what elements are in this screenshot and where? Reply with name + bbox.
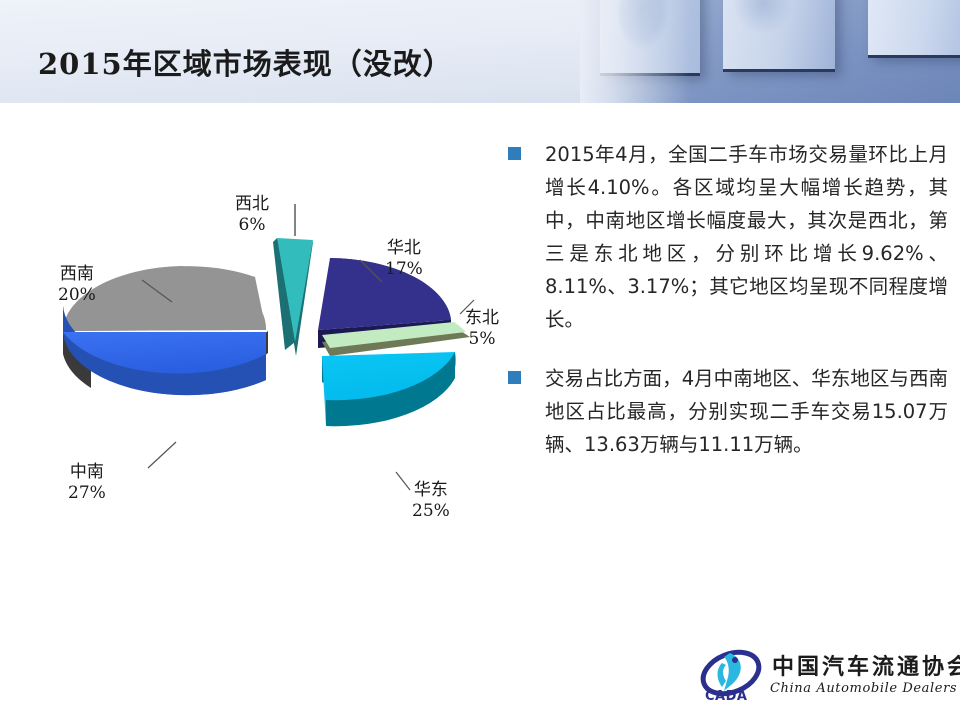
pie-label-xinan: 西南 20% — [58, 264, 96, 306]
pie-label-zhongnan-pct: 27% — [68, 483, 106, 504]
bullet-item: 交易占比方面，4月中南地区、华东地区与西南地区占比最高，分别实现二手车交易15.… — [508, 362, 948, 461]
pie-label-huabei: 华北 17% — [385, 238, 423, 280]
pie-label-huadong: 华东 25% — [412, 480, 450, 522]
logo-english-name: China Automobile Dealers Association — [770, 681, 960, 696]
leader-line-huadong — [396, 472, 410, 490]
page-title: 2015年区域市场表现（没改） — [38, 41, 453, 83]
pie-label-huabei-name: 华北 — [387, 238, 421, 258]
pie-label-xibei-name: 西北 — [235, 194, 269, 214]
pie-label-zhongnan-name: 中南 — [70, 462, 104, 482]
slide-canvas: 2015年区域市场表现（没改） — [0, 0, 960, 720]
photo-cube-3 — [868, 0, 960, 58]
pie-label-xibei: 西北 6% — [235, 194, 269, 236]
pie-chart: 西北 6% 西南 20% 华北 17% 东北 5% 中南 27% 华东 25% — [30, 180, 510, 550]
content-text-column: 2015年4月，全国二手车市场交易量环比上月增长4.10%。各区域均呈大幅增长趋… — [508, 138, 948, 487]
square-bullet-icon — [508, 147, 521, 160]
square-bullet-icon — [508, 371, 521, 384]
pie-label-dongbei-name: 东北 — [465, 308, 499, 328]
pie-label-xinan-name: 西南 — [60, 264, 94, 284]
pie-label-dongbei-pct: 5% — [465, 329, 499, 350]
bullet-item: 2015年4月，全国二手车市场交易量环比上月增长4.10%。各区域均呈大幅增长趋… — [508, 138, 948, 336]
slide-header-banner: 2015年区域市场表现（没改） — [0, 0, 960, 103]
cada-logo: 中国汽车流通协会 China Automobile Dealers Associ… — [700, 645, 950, 711]
pie-label-zhongnan: 中南 27% — [68, 462, 106, 504]
pie-label-xinan-pct: 20% — [58, 285, 96, 306]
photo-cube-2 — [723, 0, 835, 72]
logo-chinese-name: 中国汽车流通协会 — [772, 649, 960, 681]
logo-abbreviation: CADA — [705, 689, 747, 704]
pie-label-huadong-pct: 25% — [412, 501, 450, 522]
pie-label-xibei-pct: 6% — [235, 215, 269, 236]
photo-glare — [580, 0, 690, 103]
pie-label-dongbei: 东北 5% — [465, 308, 499, 350]
pie-label-huadong-name: 华东 — [414, 480, 448, 500]
pie-label-huabei-pct: 17% — [385, 259, 423, 280]
bullet-paragraph-2: 交易占比方面，4月中南地区、华东地区与西南地区占比最高，分别实现二手车交易15.… — [545, 362, 948, 461]
leader-line-zhongnan — [148, 442, 176, 468]
header-decorative-photo — [580, 0, 960, 103]
bullet-paragraph-1: 2015年4月，全国二手车市场交易量环比上月增长4.10%。各区域均呈大幅增长趋… — [545, 138, 948, 336]
